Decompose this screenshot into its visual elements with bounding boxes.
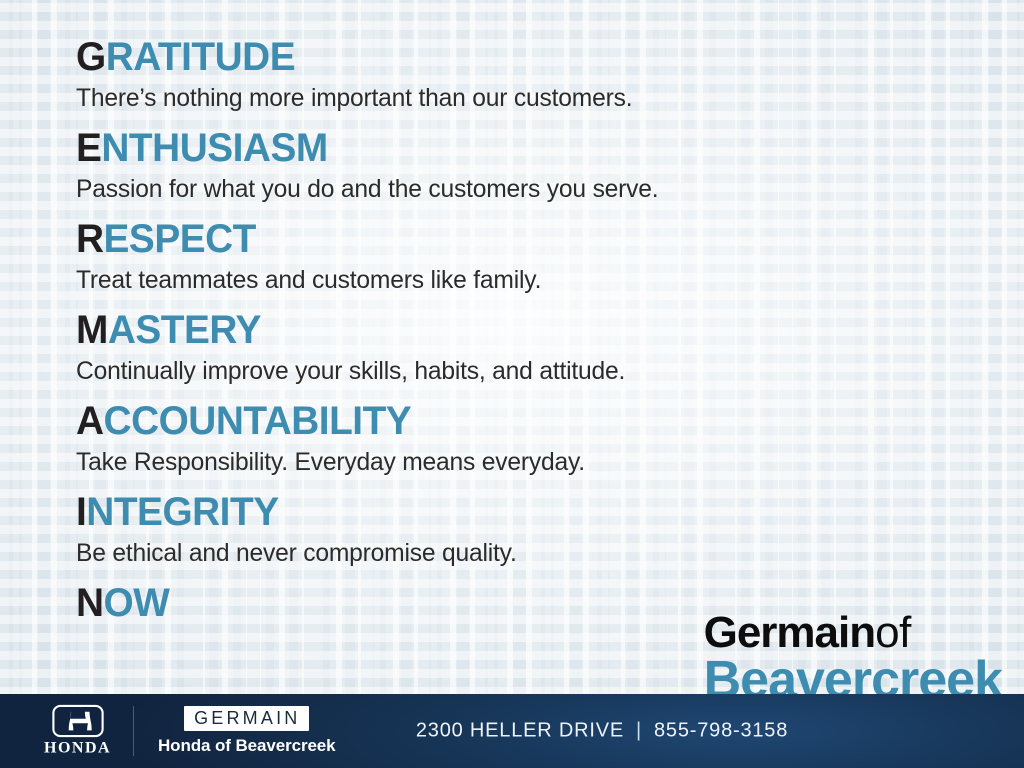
dealer-lockup-of: of <box>875 608 911 657</box>
value-word-integrity: INTEGRITY <box>76 489 966 535</box>
value-rest: RATITUDE <box>106 35 295 79</box>
footer-contact: 2300 HELLER DRIVE|855-798-3158 <box>0 720 1024 743</box>
value-word-gratitude: GRATITUDE <box>76 34 966 80</box>
value-word-enthusiasm: ENTHUSIASM <box>76 125 966 171</box>
value-rest: ESPECT <box>104 217 256 261</box>
footer-address: 2300 HELLER DRIVE <box>416 720 624 742</box>
value-item-mastery: MASTERY Continually improve your skills,… <box>76 307 994 386</box>
value-item-integrity: INTEGRITY Be ethical and never compromis… <box>76 489 994 568</box>
value-initial: N <box>76 581 104 625</box>
value-item-respect: RESPECT Treat teammates and customers li… <box>76 216 994 295</box>
value-description-mastery: Continually improve your skills, habits,… <box>76 356 980 386</box>
footer-bar: HONDA GERMAIN Honda of Beavercreek 2300 … <box>0 694 1024 768</box>
footer-contact-separator: | <box>624 720 654 743</box>
value-initial: G <box>76 35 106 79</box>
value-initial: I <box>76 490 86 534</box>
value-initial: E <box>76 126 101 170</box>
value-word-respect: RESPECT <box>76 216 966 262</box>
footer-phone[interactable]: 855-798-3158 <box>654 720 788 742</box>
value-description-accountability: Take Responsibility. Everyday means ever… <box>76 447 980 477</box>
dealer-lockup: Germainof Beavercreek <box>704 612 1002 706</box>
dealer-lockup-line-1: Germainof <box>704 612 1002 654</box>
value-description-enthusiasm: Passion for what you do and the customer… <box>76 174 980 204</box>
value-item-accountability: ACCOUNTABILITY Take Responsibility. Ever… <box>76 398 994 477</box>
footer-inner: HONDA GERMAIN Honda of Beavercreek 2300 … <box>0 694 1024 768</box>
value-description-respect: Treat teammates and customers like famil… <box>76 265 980 295</box>
dealer-lockup-brand: Germain <box>704 608 876 657</box>
value-item-enthusiasm: ENTHUSIASM Passion for what you do and t… <box>76 125 994 204</box>
value-rest: NTHUSIASM <box>101 126 327 170</box>
value-initial: A <box>76 399 104 443</box>
value-description-gratitude: There’s nothing more important than our … <box>76 83 980 113</box>
value-initial: R <box>76 217 104 261</box>
value-rest: OW <box>104 581 170 625</box>
value-description-integrity: Be ethical and never compromise quality. <box>76 538 980 568</box>
value-word-mastery: MASTERY <box>76 307 966 353</box>
value-rest: NTEGRITY <box>86 490 278 534</box>
value-item-gratitude: GRATITUDE There’s nothing more important… <box>76 34 994 113</box>
values-poster: GRATITUDE There’s nothing more important… <box>0 0 1024 768</box>
value-word-accountability: ACCOUNTABILITY <box>76 398 966 444</box>
value-initial: M <box>76 308 108 352</box>
core-values-list: GRATITUDE There’s nothing more important… <box>76 34 994 638</box>
value-rest: ASTERY <box>108 308 261 352</box>
value-rest: CCOUNTABILITY <box>104 399 412 443</box>
